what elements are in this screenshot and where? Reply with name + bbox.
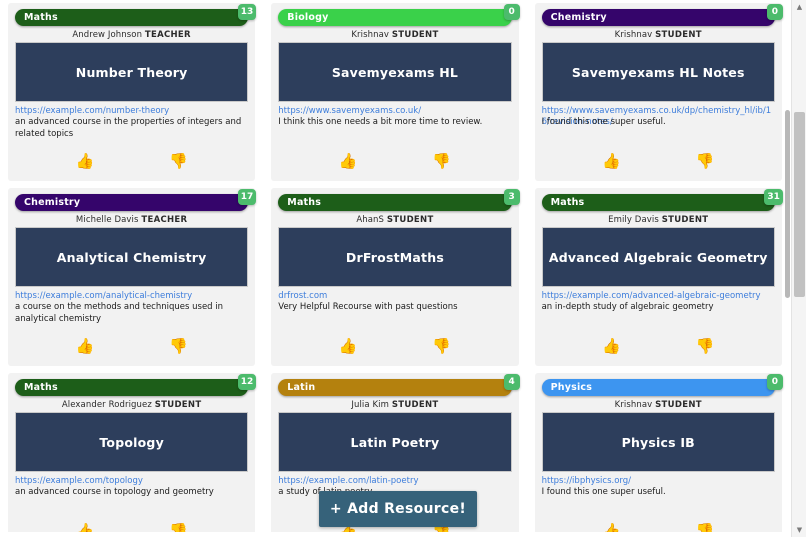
resource-thumbnail[interactable]: Latin Poetry bbox=[278, 412, 511, 472]
vote-controls: 👍👎 bbox=[271, 154, 518, 169]
card-author: Julia Kim STUDENT bbox=[278, 398, 511, 412]
resource-link[interactable]: https://example.com/topology bbox=[15, 476, 248, 487]
author-name: Andrew Johnson bbox=[72, 30, 142, 40]
resource-title: Savemyexams HL Notes bbox=[566, 65, 751, 80]
resource-link[interactable]: https://example.com/advanced-algebraic-g… bbox=[542, 291, 775, 302]
subject-tag-row: Biology0 bbox=[278, 9, 511, 26]
resource-description: a course on the methods and techniques u… bbox=[15, 302, 248, 325]
vote-count-badge: 0 bbox=[504, 4, 520, 20]
thumbs-up-icon[interactable]: 👍 bbox=[602, 524, 621, 532]
card-author: Andrew Johnson TEACHER bbox=[15, 28, 248, 42]
resource-thumbnail[interactable]: Number Theory bbox=[15, 42, 248, 102]
vote-controls: 👍👎 bbox=[8, 154, 255, 169]
author-role: STUDENT bbox=[655, 400, 702, 410]
resource-thumbnail[interactable]: DrFrostMaths bbox=[278, 227, 511, 287]
thumbs-up-icon[interactable]: 👍 bbox=[75, 154, 94, 169]
resource-thumbnail[interactable]: Savemyexams HL Notes bbox=[542, 42, 775, 102]
author-name: Krishnav bbox=[351, 30, 389, 40]
resource-title: Latin Poetry bbox=[345, 435, 446, 450]
card-author: Krishnav STUDENT bbox=[278, 28, 511, 42]
thumbs-up-icon[interactable]: 👍 bbox=[75, 339, 94, 354]
resource-card[interactable]: Biology0Krishnav STUDENTSavemyexams HLht… bbox=[271, 3, 518, 181]
resource-link[interactable]: https://example.com/analytical-chemistry bbox=[15, 291, 248, 302]
subject-tag: Maths bbox=[278, 194, 511, 211]
resource-description: Very Helpful Recourse with past question… bbox=[278, 302, 511, 314]
subject-tag: Chemistry bbox=[15, 194, 248, 211]
card-cell: Chemistry17Michelle Davis TEACHERAnalyti… bbox=[0, 185, 263, 370]
scroll-down-arrow-icon[interactable]: ▼ bbox=[792, 523, 806, 537]
author-name: Emily Davis bbox=[608, 215, 659, 225]
resource-description: an in-depth study of algebraic geometry bbox=[542, 302, 775, 314]
resource-card[interactable]: Physics0Krishnav STUDENTPhysics IBhttps:… bbox=[535, 373, 782, 532]
resource-link[interactable]: https://example.com/number-theory bbox=[15, 106, 248, 117]
subject-tag: Maths bbox=[542, 194, 775, 211]
resource-thumbnail[interactable]: Savemyexams HL bbox=[278, 42, 511, 102]
vote-controls: 👍👎 bbox=[271, 339, 518, 354]
thumbs-up-icon[interactable]: 👍 bbox=[602, 339, 621, 354]
card-author: Krishnav STUDENT bbox=[542, 28, 775, 42]
vote-controls: 👍👎 bbox=[535, 154, 782, 169]
card-author: Krishnav STUDENT bbox=[542, 398, 775, 412]
resource-title: Number Theory bbox=[70, 65, 194, 80]
thumbs-down-icon[interactable]: 👎 bbox=[169, 339, 188, 354]
resource-card[interactable]: Chemistry0Krishnav STUDENTSavemyexams HL… bbox=[535, 3, 782, 181]
subject-tag: Physics bbox=[542, 379, 775, 396]
author-name: Krishnav bbox=[615, 400, 653, 410]
author-role: STUDENT bbox=[387, 215, 434, 225]
card-author: AhanS STUDENT bbox=[278, 213, 511, 227]
resource-title: Topology bbox=[93, 435, 170, 450]
author-role: STUDENT bbox=[655, 30, 702, 40]
resource-link[interactable]: https://ibphysics.org/ bbox=[542, 476, 775, 487]
subject-tag-row: Latin4 bbox=[278, 379, 511, 396]
subject-tag-row: Chemistry17 bbox=[15, 194, 248, 211]
vote-count-badge: 3 bbox=[504, 189, 520, 205]
inner-scrollbar-thumb[interactable] bbox=[785, 110, 790, 298]
resource-card[interactable]: Maths31Emily Davis STUDENTAdvanced Algeb… bbox=[535, 188, 782, 366]
vote-count-badge: 31 bbox=[764, 189, 783, 205]
author-role: STUDENT bbox=[392, 400, 439, 410]
author-name: Krishnav bbox=[615, 30, 653, 40]
thumbs-down-icon[interactable]: 👎 bbox=[696, 339, 715, 354]
resource-card[interactable]: Maths12Alexander Rodriguez STUDENTTopolo… bbox=[8, 373, 255, 532]
thumbs-down-icon[interactable]: 👎 bbox=[432, 154, 451, 169]
page-scrollbar-thumb[interactable] bbox=[794, 112, 805, 297]
card-author: Alexander Rodriguez STUDENT bbox=[15, 398, 248, 412]
vote-controls: 👍👎 bbox=[535, 339, 782, 354]
resource-link[interactable]: https://www.savemyexams.co.uk/ bbox=[278, 106, 511, 117]
resource-thumbnail[interactable]: Physics IB bbox=[542, 412, 775, 472]
card-cell: Maths3AhanS STUDENTDrFrostMathsdrfrost.c… bbox=[263, 185, 526, 370]
subject-tag: Latin bbox=[278, 379, 511, 396]
resource-card[interactable]: Maths13Andrew Johnson TEACHERNumber Theo… bbox=[8, 3, 255, 181]
resource-title: Physics IB bbox=[616, 435, 701, 450]
author-role: STUDENT bbox=[155, 400, 202, 410]
author-name: AhanS bbox=[356, 215, 384, 225]
author-role: TEACHER bbox=[145, 30, 191, 40]
thumbs-up-icon[interactable]: 👍 bbox=[339, 339, 358, 354]
subject-tag: Maths bbox=[15, 379, 248, 396]
thumbs-up-icon[interactable]: 👍 bbox=[602, 154, 621, 169]
author-role: TEACHER bbox=[141, 215, 187, 225]
resource-title: Savemyexams HL bbox=[326, 65, 464, 80]
page-scrollbar[interactable]: ▲ ▼ bbox=[791, 0, 806, 537]
card-cell: Maths12Alexander Rodriguez STUDENTTopolo… bbox=[0, 370, 263, 532]
author-name: Michelle Davis bbox=[76, 215, 139, 225]
thumbs-down-icon[interactable]: 👎 bbox=[169, 154, 188, 169]
thumbs-up-icon[interactable]: 👍 bbox=[75, 524, 94, 532]
vote-controls: 👍👎 bbox=[535, 524, 782, 532]
subject-tag-row: Chemistry0 bbox=[542, 9, 775, 26]
resource-card[interactable]: Maths3AhanS STUDENTDrFrostMathsdrfrost.c… bbox=[271, 188, 518, 366]
resource-description: an advanced course in the properties of … bbox=[15, 117, 248, 140]
resource-description: I found this one super useful. bbox=[542, 487, 775, 499]
author-name: Julia Kim bbox=[351, 400, 389, 410]
subject-tag: Maths bbox=[15, 9, 248, 26]
vote-count-badge: 13 bbox=[238, 4, 257, 20]
add-resource-button[interactable]: + Add Resource! bbox=[319, 491, 477, 527]
resource-board: Maths13Andrew Johnson TEACHERNumber Theo… bbox=[0, 0, 806, 537]
vote-controls: 👍👎 bbox=[8, 339, 255, 354]
card-author: Emily Davis STUDENT bbox=[542, 213, 775, 227]
vote-count-badge: 4 bbox=[504, 374, 520, 390]
subject-tag-row: Maths13 bbox=[15, 9, 248, 26]
scroll-up-arrow-icon[interactable]: ▲ bbox=[792, 0, 806, 14]
card-cell: Maths31Emily Davis STUDENTAdvanced Algeb… bbox=[527, 185, 790, 370]
resource-link[interactable]: drfrost.com bbox=[278, 291, 511, 302]
card-cell: Physics0Krishnav STUDENTPhysics IBhttps:… bbox=[527, 370, 790, 532]
card-row: Maths13Andrew Johnson TEACHERNumber Theo… bbox=[0, 0, 790, 185]
subject-tag-row: Maths3 bbox=[278, 194, 511, 211]
resource-description: I found this one super useful. bbox=[542, 117, 775, 129]
thumbs-up-icon[interactable]: 👍 bbox=[339, 154, 358, 169]
resource-thumbnail[interactable]: Topology bbox=[15, 412, 248, 472]
card-cell: Biology0Krishnav STUDENTSavemyexams HLht… bbox=[263, 0, 526, 185]
subject-tag-row: Physics0 bbox=[542, 379, 775, 396]
resource-card[interactable]: Chemistry17Michelle Davis TEACHERAnalyti… bbox=[8, 188, 255, 366]
author-role: STUDENT bbox=[662, 215, 709, 225]
vote-count-badge: 12 bbox=[238, 374, 257, 390]
thumbs-down-icon[interactable]: 👎 bbox=[696, 524, 715, 532]
thumbs-down-icon[interactable]: 👎 bbox=[696, 154, 715, 169]
vote-count-badge: 17 bbox=[238, 189, 257, 205]
author-role: STUDENT bbox=[392, 30, 439, 40]
card-cell: Chemistry0Krishnav STUDENTSavemyexams HL… bbox=[527, 0, 790, 185]
thumbs-down-icon[interactable]: 👎 bbox=[169, 524, 188, 532]
resource-title: DrFrostMaths bbox=[340, 250, 450, 265]
subject-tag: Chemistry bbox=[542, 9, 775, 26]
resource-thumbnail[interactable]: Advanced Algebraic Geometry bbox=[542, 227, 775, 287]
card-cell: Maths13Andrew Johnson TEACHERNumber Theo… bbox=[0, 0, 263, 185]
vote-controls: 👍👎 bbox=[8, 524, 255, 532]
resource-link[interactable]: https://example.com/latin-poetry bbox=[278, 476, 511, 487]
thumbs-down-icon[interactable]: 👎 bbox=[432, 339, 451, 354]
card-grid: Maths13Andrew Johnson TEACHERNumber Theo… bbox=[0, 0, 806, 532]
vote-count-badge: 0 bbox=[767, 374, 783, 390]
vote-count-badge: 0 bbox=[767, 4, 783, 20]
author-name: Alexander Rodriguez bbox=[62, 400, 152, 410]
resource-description: an advanced course in topology and geome… bbox=[15, 487, 248, 499]
resource-thumbnail[interactable]: Analytical Chemistry bbox=[15, 227, 248, 287]
subject-tag-row: Maths12 bbox=[15, 379, 248, 396]
resource-title: Analytical Chemistry bbox=[51, 250, 213, 265]
resource-title: Advanced Algebraic Geometry bbox=[543, 250, 774, 265]
resource-link[interactable]: https://www.savemyexams.co.uk/dp/chemist… bbox=[542, 106, 775, 117]
subject-tag-row: Maths31 bbox=[542, 194, 775, 211]
resource-description: I think this one needs a bit more time t… bbox=[278, 117, 511, 129]
subject-tag: Biology bbox=[278, 9, 511, 26]
card-author: Michelle Davis TEACHER bbox=[15, 213, 248, 227]
card-row: Chemistry17Michelle Davis TEACHERAnalyti… bbox=[0, 185, 790, 370]
